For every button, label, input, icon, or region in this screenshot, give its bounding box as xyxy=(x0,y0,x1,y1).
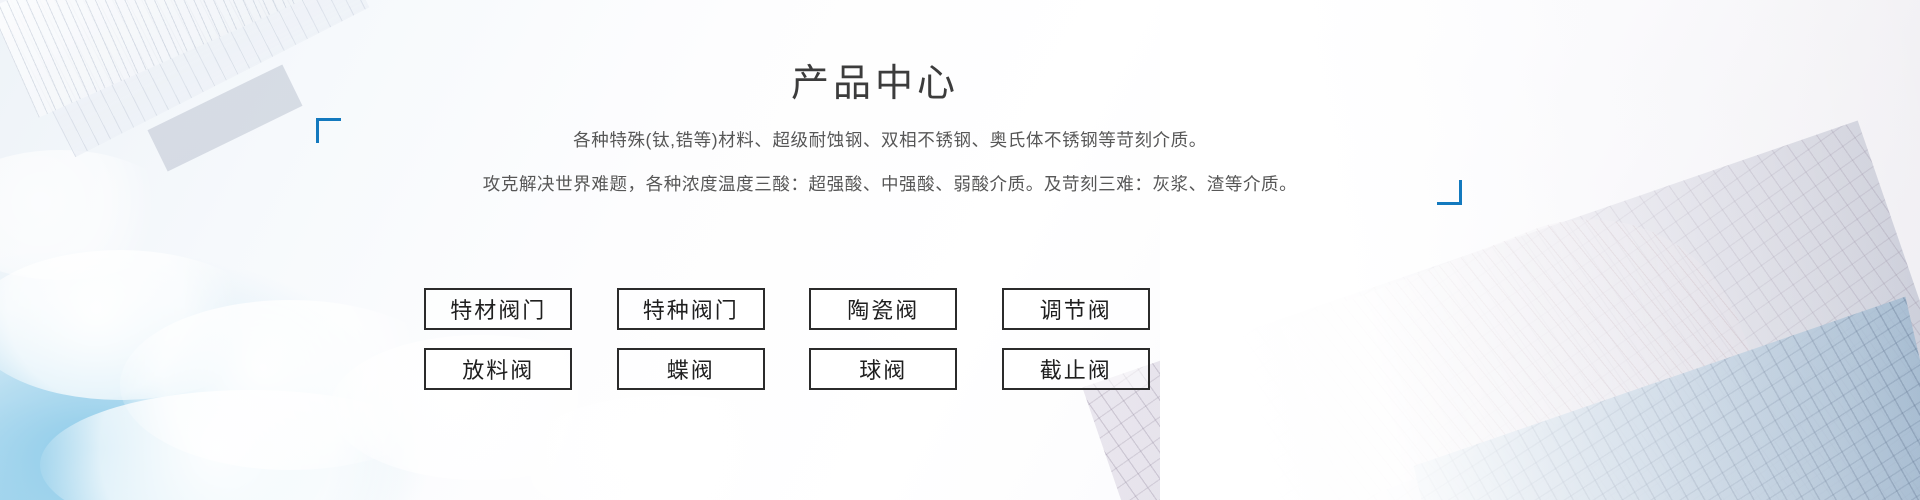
category-button-tecai-famen[interactable]: 特材阀门 xyxy=(424,288,572,330)
page-title: 产品中心 xyxy=(0,52,1750,107)
corner-bracket-bottom-right-icon xyxy=(1437,180,1462,205)
corner-bracket-top-left-icon xyxy=(316,118,341,143)
category-button-qiu-fa[interactable]: 球阀 xyxy=(809,348,957,390)
category-button-grid: 特材阀门 特种阀门 陶瓷阀 调节阀 放料阀 蝶阀 球阀 截止阀 xyxy=(402,288,1172,390)
description-line-1: 各种特殊(钛,锆等)材料、超级耐蚀钢、双相不锈钢、奥氏体不锈钢等苛刻介质。 xyxy=(300,118,1480,162)
product-center-banner: 产品中心 各种特殊(钛,锆等)材料、超级耐蚀钢、双相不锈钢、奥氏体不锈钢等苛刻介… xyxy=(0,0,1920,500)
category-button-tiaojie-fa[interactable]: 调节阀 xyxy=(1002,288,1150,330)
category-button-tezhong-famen[interactable]: 特种阀门 xyxy=(617,288,765,330)
banner-content: 产品中心 各种特殊(钛,锆等)材料、超级耐蚀钢、双相不锈钢、奥氏体不锈钢等苛刻介… xyxy=(0,0,1920,500)
category-button-die-fa[interactable]: 蝶阀 xyxy=(617,348,765,390)
description-block: 各种特殊(钛,锆等)材料、超级耐蚀钢、双相不锈钢、奥氏体不锈钢等苛刻介质。 攻克… xyxy=(300,118,1480,206)
category-button-taoci-fa[interactable]: 陶瓷阀 xyxy=(809,288,957,330)
description-line-2: 攻克解决世界难题，各种浓度温度三酸：超强酸、中强酸、弱酸介质。及苛刻三难：灰浆、… xyxy=(300,162,1480,206)
category-button-fangliao-fa[interactable]: 放料阀 xyxy=(424,348,572,390)
category-button-jiezhi-fa[interactable]: 截止阀 xyxy=(1002,348,1150,390)
